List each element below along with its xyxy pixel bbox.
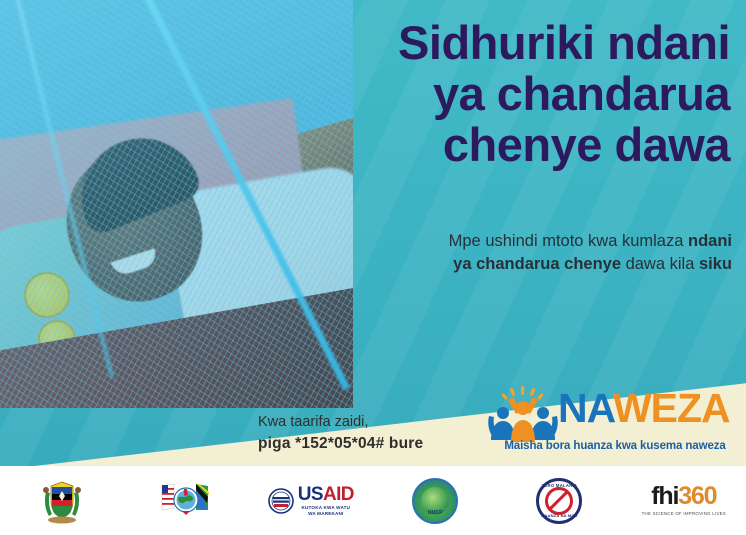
subtitle-text-1: Mpe ushindi mtoto kwa kumlaza — [449, 232, 688, 250]
usaid-tagline-line-1: KUTOKA KWA WATU — [298, 505, 354, 511]
usaid-word-aid: AID — [323, 484, 354, 505]
partner-logo-bar: USAID KUTOKA KWA WATU WA MAREKANI NMCP Z… — [0, 466, 746, 535]
headline-line-2: ya chandarua — [370, 69, 730, 120]
nmcp-seal-icon: NMCP — [412, 478, 458, 524]
usaid-seal-icon — [268, 488, 294, 514]
usaid-tagline: KUTOKA KWA WATU WA MAREKANI — [298, 505, 354, 516]
logo-slot-nmcp-seal: NMCP — [373, 466, 497, 535]
headline: Sidhuriki ndani ya chandarua chenye dawa — [370, 18, 730, 170]
child-under-mosquito-net-photo — [0, 0, 353, 408]
usaid-wordmark: USAID — [298, 485, 354, 504]
naweza-logo: NAWEZA Maisha bora huanza kwa kusema naw… — [486, 386, 736, 458]
logo-slot-zero-malaria: ZERO MALARIA NAANZA NA MIMI — [497, 466, 621, 535]
naweza-tagline: Maisha bora huanza kwa kusema naweza — [494, 440, 736, 452]
usaid-logo: USAID KUTOKA KWA WATU WA MAREKANI — [268, 485, 354, 516]
logo-slot-fhi360: fhi360 THE SCIENCE OF IMPROVING LIVES — [622, 466, 746, 535]
fhi360-word-360: 360 — [678, 482, 716, 510]
fhi360-tagline: THE SCIENCE OF IMPROVING LIVES — [642, 512, 726, 516]
no-mosquito-symbol — [545, 487, 573, 515]
subtitle-bold-1: ndani — [688, 232, 732, 250]
headline-line-1: Sidhuriki ndani — [370, 18, 730, 69]
usaid-word-us: US — [298, 484, 323, 505]
subtitle-bold-3: siku — [699, 255, 732, 273]
logo-slot-coat-of-arms — [0, 466, 124, 535]
headline-line-3: chenye dawa — [370, 120, 730, 171]
cta-ussd-code: piga *152*05*04# bure — [258, 433, 423, 455]
zero-malaria-arc-bottom: NAANZA NA MIMI — [539, 513, 579, 518]
naweza-wordmark: NAWEZA — [558, 388, 730, 429]
usa-tanzania-partnership-icon — [160, 480, 212, 522]
call-to-action: Kwa taarifa zaidi, piga *152*05*04# bure — [258, 412, 423, 455]
logo-slot-usaid: USAID KUTOKA KWA WATU WA MAREKANI — [249, 466, 373, 535]
fhi360-logo: fhi360 THE SCIENCE OF IMPROVING LIVES — [642, 484, 726, 516]
naweza-figures-icon — [486, 386, 560, 444]
seal-label: NMCP — [414, 510, 456, 516]
tanzania-coat-of-arms-icon — [39, 478, 85, 524]
subtitle: Mpe ushindi mtoto kwa kumlaza ndani ya c… — [368, 230, 732, 277]
malaria-prevention-poster: Sidhuriki ndani ya chandarua chenye dawa… — [0, 0, 746, 535]
usaid-text-block: USAID KUTOKA KWA WATU WA MAREKANI — [298, 485, 354, 516]
naweza-word-na: NA — [558, 385, 613, 431]
fhi360-word-fhi: fhi — [651, 482, 678, 510]
fhi360-wordmark: fhi360 — [642, 484, 726, 509]
subtitle-bold-2: ya chandarua chenye — [453, 255, 621, 273]
cta-line-1: Kwa taarifa zaidi, — [258, 412, 423, 433]
zero-malaria-icon: ZERO MALARIA NAANZA NA MIMI — [536, 478, 582, 524]
usaid-tagline-line-2: WA MAREKANI — [298, 511, 354, 517]
subtitle-text-2: dawa kila — [621, 255, 699, 273]
logo-slot-partnership — [124, 466, 248, 535]
naweza-word-weza: WEZA — [613, 385, 730, 431]
